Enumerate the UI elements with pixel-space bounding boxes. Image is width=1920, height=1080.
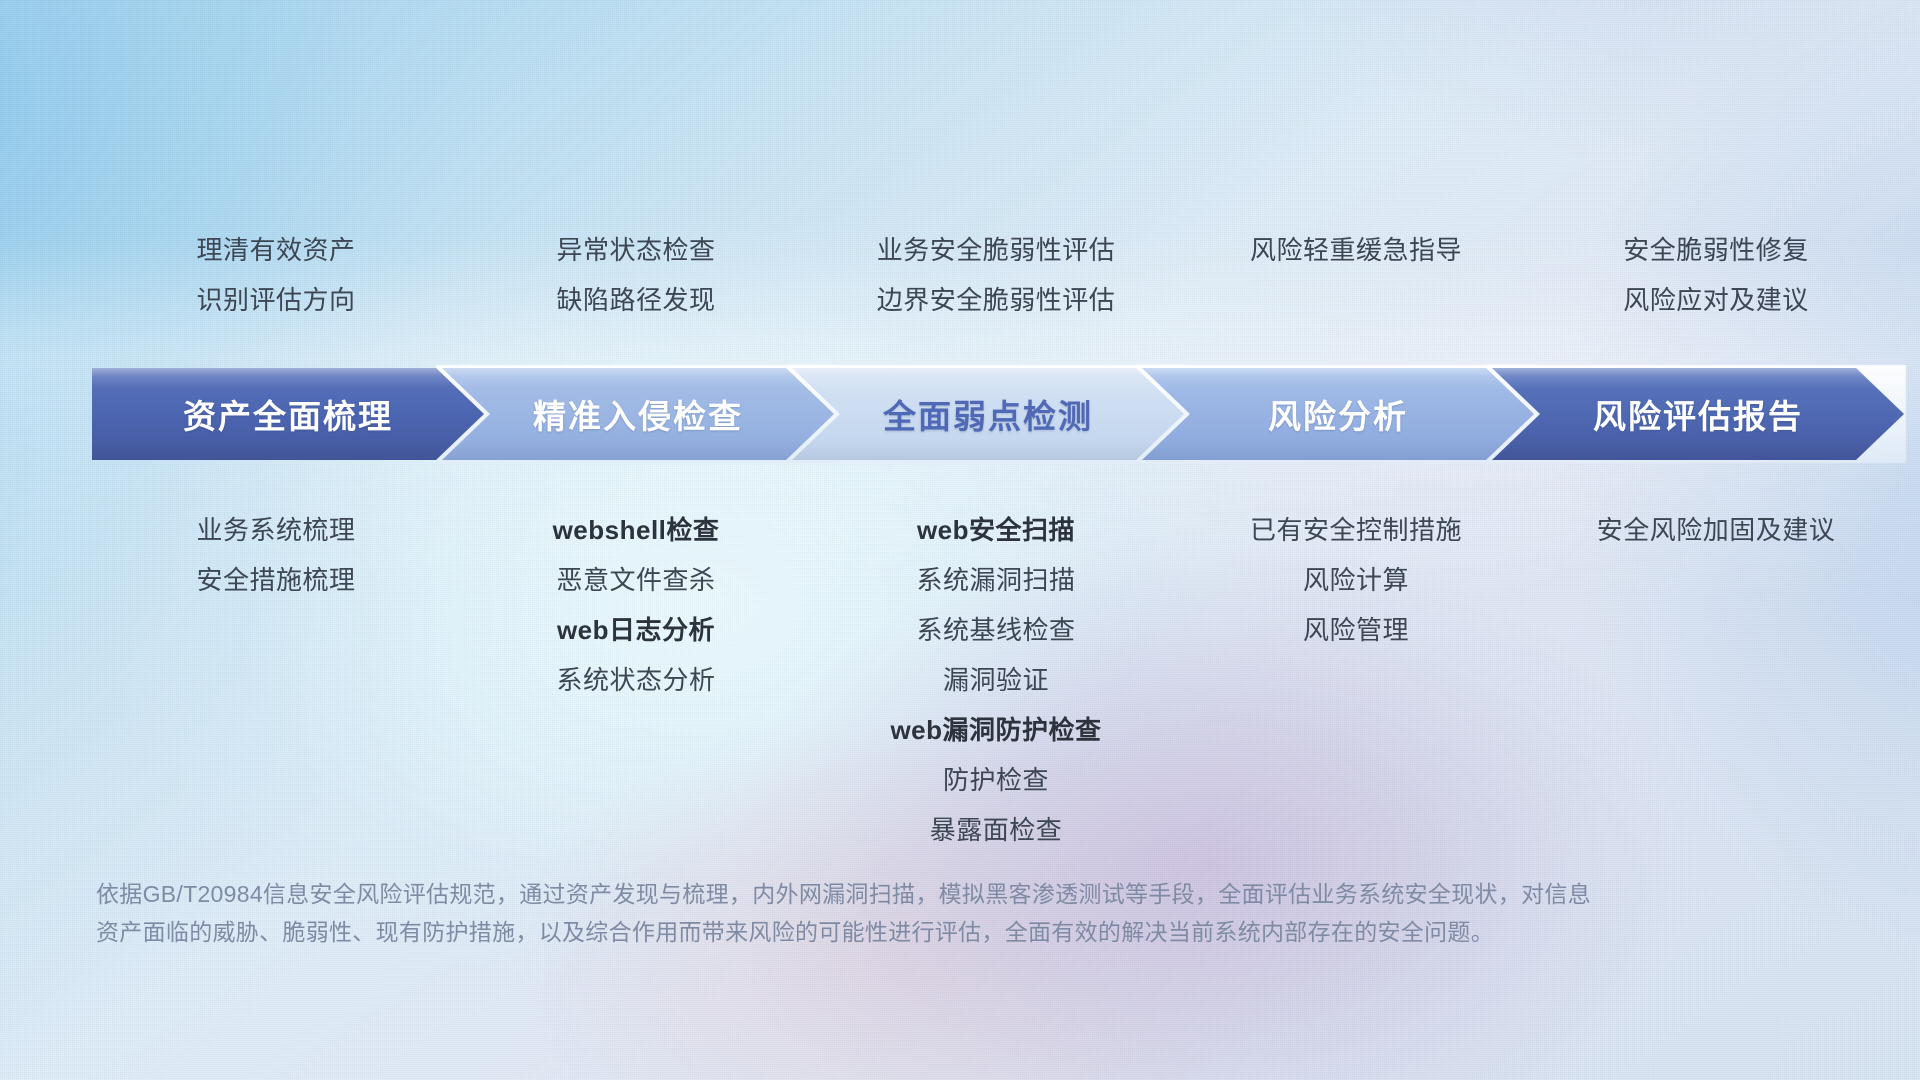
process-step-label: 风险分析	[1268, 390, 1408, 438]
process-step-weakness-detection[interactable]: 全面弱点检测	[792, 368, 1184, 460]
activity-note: 风险管理	[1176, 605, 1536, 655]
activity-note: 系统状态分析	[456, 655, 816, 705]
stage-outcomes-risk-analysis: 风险轻重缓急指导	[1176, 225, 1536, 325]
activity-note: 恶意文件查杀	[456, 555, 816, 605]
process-step-label: 资产全面梳理	[183, 390, 393, 438]
stage-outcomes-intrusion-check: 异常状态检查 缺陷路径发现	[456, 225, 816, 325]
stage-outcomes-asset-inventory: 理清有效资产 识别评估方向	[96, 225, 456, 325]
process-arrow-band: 资产全面梳理 精准入侵检查 全面弱点检测 风险分析	[92, 368, 1904, 460]
process-step-assessment-report[interactable]: 风险评估报告	[1492, 368, 1904, 460]
activity-note: 安全风险加固及建议	[1536, 505, 1896, 555]
outcome-note: 边界安全脆弱性评估	[816, 275, 1176, 325]
outcome-note: 异常状态检查	[456, 225, 816, 275]
activity-note: 安全措施梳理	[96, 555, 456, 605]
stage-activities-weakness-detection: web安全扫描 系统漏洞扫描 系统基线检查 漏洞验证 web漏洞防护检查 防护检…	[816, 505, 1176, 855]
activity-note: web漏洞防护检查	[816, 705, 1176, 755]
stage-activities-assessment-report: 安全风险加固及建议	[1536, 505, 1896, 555]
activity-note: 系统基线检查	[816, 605, 1176, 655]
stage-outcomes-weakness-detection: 业务安全脆弱性评估 边界安全脆弱性评估	[816, 225, 1176, 325]
stage-activities-intrusion-check: webshell检查 恶意文件查杀 web日志分析 系统状态分析	[456, 505, 816, 705]
process-step-label: 全面弱点检测	[883, 390, 1093, 438]
activity-note: 系统漏洞扫描	[816, 555, 1176, 605]
activity-note: web日志分析	[456, 605, 816, 655]
activity-note: 暴露面检查	[816, 805, 1176, 855]
stage-outcomes-row: 理清有效资产 识别评估方向 异常状态检查 缺陷路径发现 业务安全脆弱性评估 边界…	[96, 225, 1896, 325]
footer-line: 依据GB/T20984信息安全风险评估规范，通过资产发现与梳理，内外网漏洞扫描，…	[96, 875, 1606, 913]
stage-outcomes-assessment-report: 安全脆弱性修复 风险应对及建议	[1536, 225, 1896, 325]
stage-activities-risk-analysis: 已有安全控制措施 风险计算 风险管理	[1176, 505, 1536, 655]
process-step-intrusion-check[interactable]: 精准入侵检查	[442, 368, 834, 460]
outcome-note: 理清有效资产	[96, 225, 456, 275]
footer-description: 依据GB/T20984信息安全风险评估规范，通过资产发现与梳理，内外网漏洞扫描，…	[96, 875, 1606, 951]
activity-note: 防护检查	[816, 755, 1176, 805]
footer-line: 资产面临的威胁、脆弱性、现有防护措施，以及综合作用而带来风险的可能性进行评估，全…	[96, 913, 1606, 951]
stage-activities-asset-inventory: 业务系统梳理 安全措施梳理	[96, 505, 456, 605]
outcome-note: 业务安全脆弱性评估	[816, 225, 1176, 275]
activity-note: 漏洞验证	[816, 655, 1176, 705]
outcome-note: 风险应对及建议	[1536, 275, 1896, 325]
stage-activities-row: 业务系统梳理 安全措施梳理 webshell检查 恶意文件查杀 web日志分析 …	[96, 505, 1896, 855]
process-step-label: 精准入侵检查	[533, 390, 743, 438]
activity-note: web安全扫描	[816, 505, 1176, 555]
outcome-note: 安全脆弱性修复	[1536, 225, 1896, 275]
activity-note: webshell检查	[456, 505, 816, 555]
process-step-risk-analysis[interactable]: 风险分析	[1142, 368, 1534, 460]
process-step-label: 风险评估报告	[1593, 390, 1803, 438]
activity-note: 业务系统梳理	[96, 505, 456, 555]
process-step-asset-inventory[interactable]: 资产全面梳理	[92, 368, 484, 460]
activity-note: 风险计算	[1176, 555, 1536, 605]
slide-canvas: 理清有效资产 识别评估方向 异常状态检查 缺陷路径发现 业务安全脆弱性评估 边界…	[0, 0, 1920, 1080]
outcome-note: 缺陷路径发现	[456, 275, 816, 325]
outcome-note: 识别评估方向	[96, 275, 456, 325]
activity-note: 已有安全控制措施	[1176, 505, 1536, 555]
outcome-note: 风险轻重缓急指导	[1176, 225, 1536, 275]
